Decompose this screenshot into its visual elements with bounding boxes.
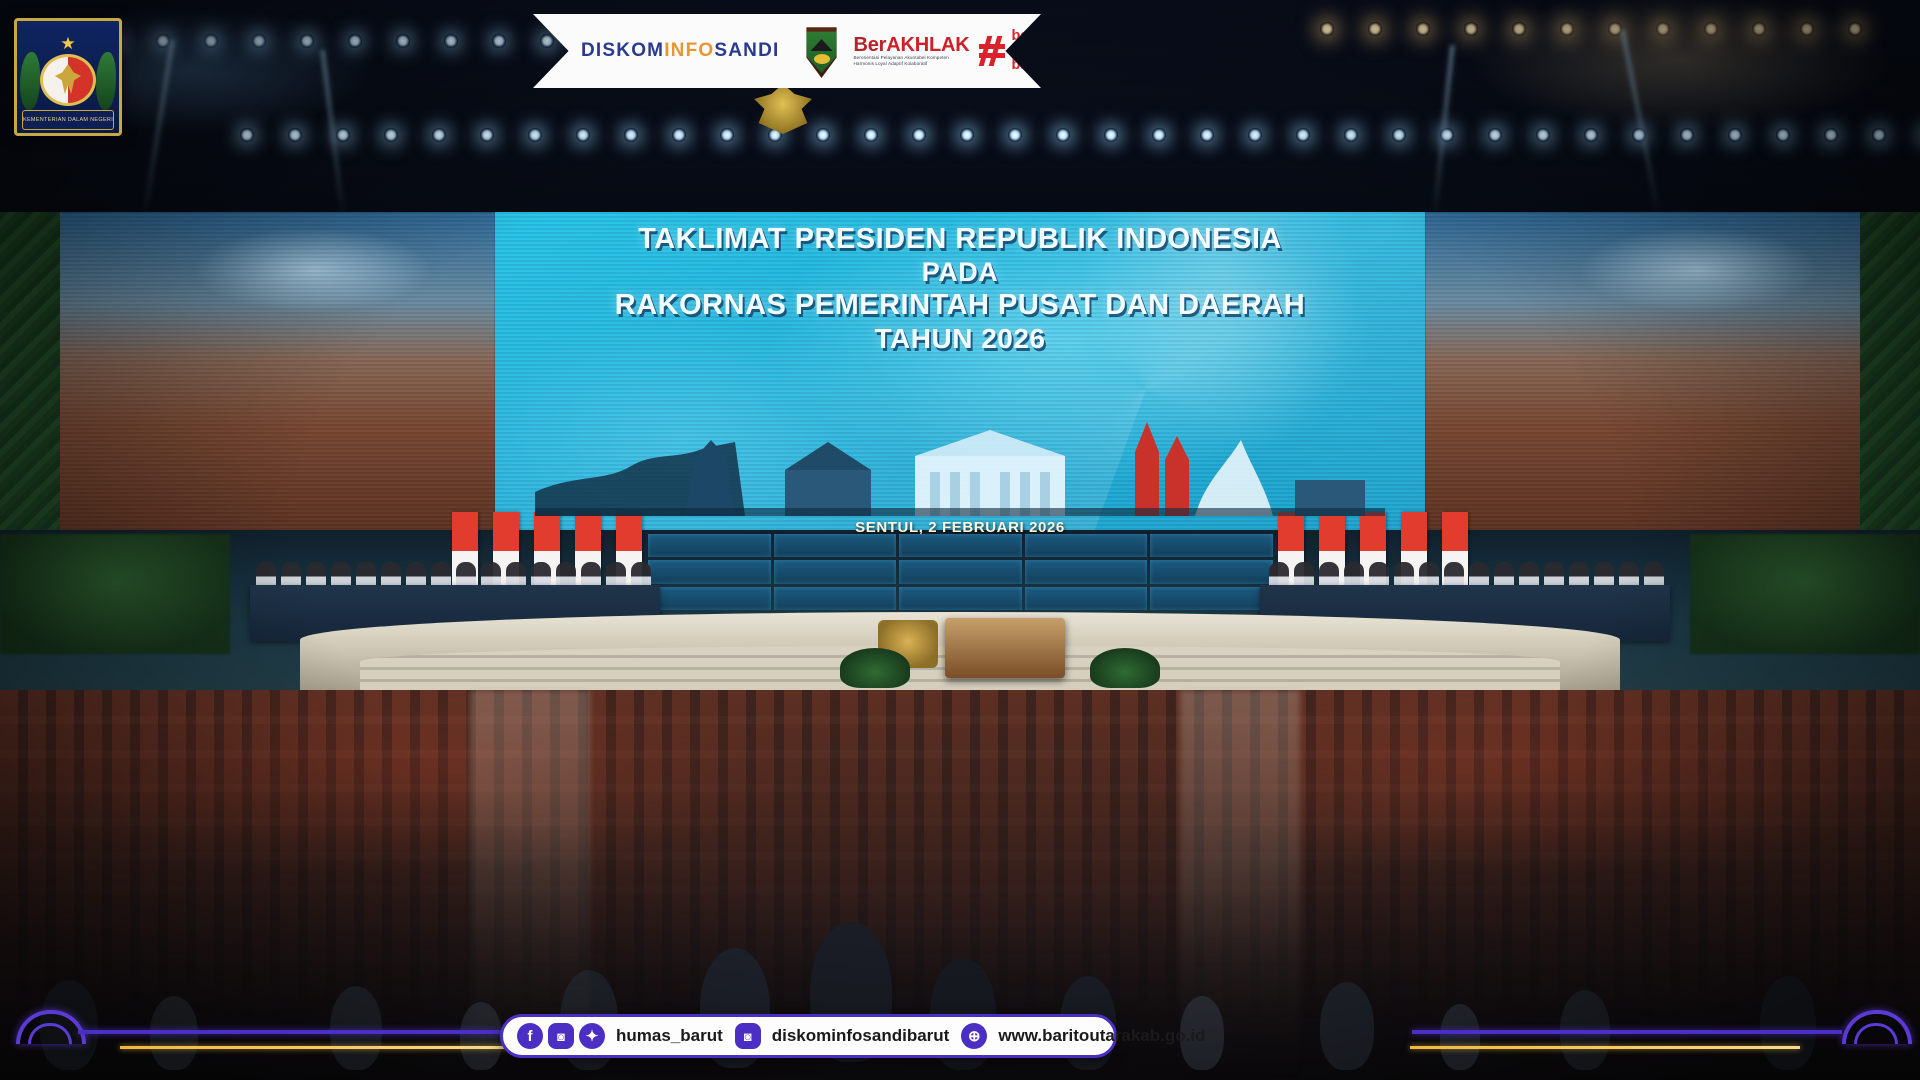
berakhlak-title-prefix: Ber [854,34,887,56]
footer-gold-rule-left [120,1046,510,1049]
berakhlak-title-main: AKHLAK [886,34,969,56]
event-photograph: TAKLIMAT PRESIDEN REPUBLIK INDONESIA PAD… [0,0,1920,1080]
footer-gold-rule-right [1410,1046,1800,1049]
screenshot-root: TAKLIMAT PRESIDEN REPUBLIK INDONESIA PAD… [0,0,1920,1080]
truss-light-row-warm [1320,22,1896,36]
emblem-ribbon-label: KEMENTERIAN DALAM NEGERI [22,110,114,130]
hash-icon [979,36,1005,66]
stage-plants-left [0,534,230,654]
instagram-icon[interactable]: ◙ [548,1023,574,1049]
social-handle: humas_barut [616,1026,723,1046]
stage-plant [840,648,910,688]
berakhlak-subtitle-2: Harmonis Loyal Adaptif Kolaboratif [854,61,970,67]
twitter-icon[interactable]: ✦ [579,1023,605,1049]
led-wall-left-feed [40,212,495,534]
footer-rule-right [1412,1030,1842,1034]
wordmark-part-1: DISKOM [581,40,664,61]
led-line-4: TAHUN 2026 [495,322,1425,356]
barito-utara-regency-logo [804,24,840,78]
led-wall-right-feed [1425,212,1880,534]
corner-arc-right [1836,1010,1910,1044]
led-date-line: SENTUL, 2 FEBRUARI 2026 [495,519,1425,534]
top-banner: DISKOMINFOSANDI BerAKHLAK Berorientasi P… [533,14,1041,88]
corner-arc-left [10,1010,84,1044]
berakhlak-text-block: BerAKHLAK Berorientasi Pelayanan Akuntab… [854,36,970,67]
wordmark-part-3: SANDI [714,40,779,61]
instagram-handle: diskominfosandibarut [772,1026,950,1046]
globe-icon[interactable]: ⊕ [961,1023,987,1049]
stage-backdrop-panels [648,534,1273,610]
aisle-right [1180,690,1300,1080]
led-video-wall: TAKLIMAT PRESIDEN REPUBLIK INDONESIA PAD… [40,212,1880,534]
stage-plant [1090,648,1160,688]
led-slide-text: TAKLIMAT PRESIDEN REPUBLIK INDONESIA PAD… [495,222,1425,356]
light-beam [142,40,175,219]
website-url: www.baritoutarakab.go.id [998,1026,1205,1046]
footer-rule-left [78,1030,508,1034]
light-beam [1620,30,1661,217]
regency-logo-inner [804,29,840,73]
instagram-icon-secondary[interactable]: ◙ [735,1023,761,1049]
green-wall-left [0,212,60,542]
green-wall-right [1860,212,1920,542]
facebook-icon[interactable]: f [517,1023,543,1049]
led-line-3: RAKORNAS PEMERINTAH PUSAT DAN DAERAH [495,288,1425,322]
skyline-illustration [535,396,1385,516]
wordmark-part-2: INFO [664,40,714,61]
social-media-footer-bar: f ◙ ✦ humas_barut ◙ diskominfosandibarut… [500,1014,1117,1058]
diskominfosandi-wordmark: DISKOMINFOSANDI [581,40,780,62]
stage-plants-right [1690,534,1920,654]
led-wall-center-slide: TAKLIMAT PRESIDEN REPUBLIK INDONESIA PAD… [495,212,1425,534]
berakhlak-title: BerAKHLAK [854,36,970,55]
truss-light-row [60,34,636,48]
presidential-lectern [945,618,1065,678]
emblem-star-icon: ★ [60,34,75,54]
led-line-1: TAKLIMAT PRESIDEN REPUBLIK INDONESIA [495,222,1425,256]
truss-light-row-lower [240,128,1920,142]
led-line-2: PADA [495,256,1425,288]
kemendagri-emblem: ★ KEMENTERIAN DALAM NEGERI [14,18,122,136]
